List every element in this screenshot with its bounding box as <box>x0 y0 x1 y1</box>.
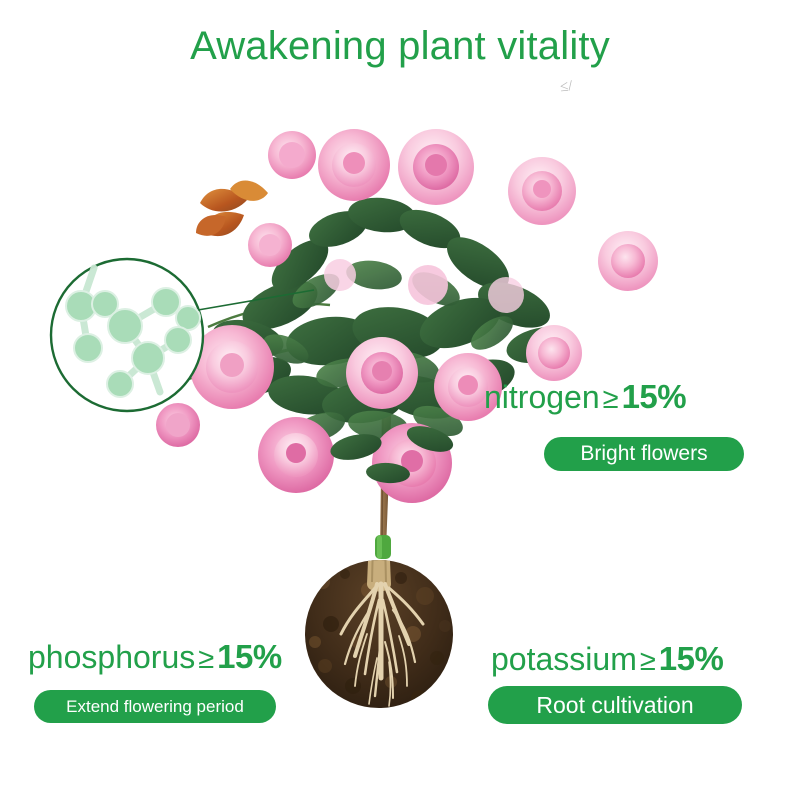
title-artifact-mark: ≤/ <box>559 79 586 94</box>
benefit-badge-root-cultivation[interactable]: Root cultivation <box>488 686 742 724</box>
nutrient-operator-nitrogen: ≥ <box>600 383 622 415</box>
promo-poster: Awakening plant vitality ≤/ <box>0 0 800 800</box>
nutrient-label-phosphorus: phosphorus≥15% <box>28 638 282 676</box>
nutrient-name-potassium: potassium <box>491 641 637 677</box>
page-title: Awakening plant vitality <box>0 24 800 69</box>
benefit-badge-label: Root cultivation <box>536 692 693 719</box>
benefit-badge-label: Extend flowering period <box>66 697 244 717</box>
benefit-badge-bright-flowers[interactable]: Bright flowers <box>544 437 744 471</box>
nutrient-label-nitrogen: nitrogen≥15% <box>484 378 686 416</box>
nutrient-value-nitrogen: 15% <box>622 378 687 415</box>
nutrient-value-phosphorus: 15% <box>217 638 282 675</box>
nutrient-value-potassium: 15% <box>659 640 724 677</box>
molecule-leader-line <box>196 288 316 332</box>
rose-plant-image <box>130 95 670 595</box>
nutrient-name-nitrogen: nitrogen <box>484 379 600 415</box>
nutrient-operator-phosphorus: ≥ <box>195 643 217 675</box>
benefit-badge-label: Bright flowers <box>580 442 707 466</box>
molecule-icon <box>48 256 206 414</box>
benefit-badge-extend-flowering-period[interactable]: Extend flowering period <box>34 690 276 723</box>
root-soil-photo <box>305 538 453 710</box>
nutrient-operator-potassium: ≥ <box>637 645 659 677</box>
nutrient-name-phosphorus: phosphorus <box>28 639 195 675</box>
nutrient-label-potassium: potassium≥15% <box>491 640 723 678</box>
